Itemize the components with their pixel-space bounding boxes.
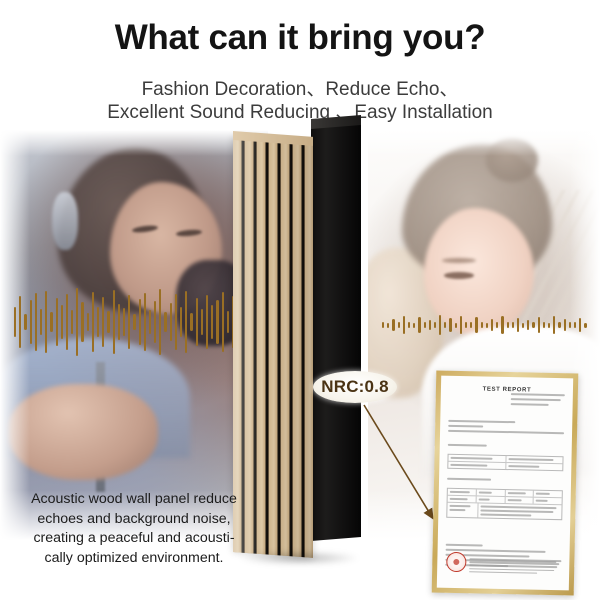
waveform-bar <box>444 322 446 328</box>
waveform-bar <box>149 310 151 334</box>
waveform-bar <box>56 298 58 346</box>
waveform-bar <box>50 312 52 332</box>
waveform-bar <box>113 290 115 354</box>
waveform-bar <box>387 323 389 328</box>
waveform-bar <box>19 296 21 348</box>
waveform-bar <box>118 304 120 340</box>
waveform-bar <box>24 314 26 330</box>
waveform-bar <box>403 316 405 334</box>
report-meta-lines <box>511 393 565 409</box>
waveform-bar <box>175 294 177 350</box>
waveform-bar <box>460 316 462 334</box>
waveform-bar <box>481 322 483 328</box>
caption-line-2: echoes and background noise, <box>6 510 262 530</box>
waveform-bar <box>532 322 534 328</box>
waveform-bar <box>201 309 203 335</box>
waveform-bar <box>538 317 540 333</box>
waveform-bar <box>558 322 560 328</box>
waveform-bar <box>180 307 182 337</box>
waveform-bar <box>35 293 37 351</box>
reduced-sound-waveform <box>382 312 587 338</box>
child-closed-eye <box>444 272 474 279</box>
waveform-bar <box>465 322 467 328</box>
subtitle-line-2: Excellent Sound Reducing 、Easy Installat… <box>0 97 600 124</box>
caption-line-3: creating a peaceful and acousti- <box>6 529 262 549</box>
nrc-badge-label: NRC:0.8 <box>321 377 389 397</box>
report-section-3-heading <box>447 478 563 485</box>
waveform-bar <box>45 291 47 353</box>
waveform-bar <box>527 320 529 330</box>
waveform-bar <box>71 310 73 334</box>
waveform-bar <box>475 317 477 333</box>
child-hair-bun <box>486 138 538 182</box>
waveform-bar <box>439 315 441 335</box>
waveform-bar <box>170 303 172 341</box>
waveform-bar <box>133 314 135 330</box>
waveform-bar <box>449 318 451 332</box>
report-page: TEST REPORT <box>437 376 573 591</box>
waveform-bar <box>434 322 436 328</box>
waveform-bar <box>211 305 213 339</box>
waveform-bar <box>97 307 99 337</box>
report-conditions-table <box>446 488 563 520</box>
waveform-bar <box>491 319 493 331</box>
waveform-bar <box>569 322 571 328</box>
waveform-bar <box>413 323 415 328</box>
waveform-bar <box>144 293 146 351</box>
waveform-bar <box>159 289 161 355</box>
waveform-bar <box>543 322 545 328</box>
waveform-bar <box>455 323 457 328</box>
caption-line-4: cally optimized environment. <box>6 549 262 569</box>
waveform-bar <box>123 308 125 336</box>
waveform-bar <box>190 313 192 331</box>
waveform-bar <box>206 295 208 349</box>
waveform-bar <box>486 323 488 328</box>
waveform-bar <box>501 316 503 334</box>
report-section-2-heading <box>448 444 564 451</box>
waveform-bar <box>102 297 104 347</box>
waveform-bar <box>496 322 498 328</box>
loud-sound-waveform <box>14 286 270 358</box>
waveform-bar <box>14 307 16 337</box>
waveform-bar <box>66 294 68 350</box>
waveform-bar <box>154 301 156 343</box>
child-eyebrow <box>442 258 476 263</box>
waveform-bar <box>382 322 384 328</box>
waveform-bar <box>424 322 426 328</box>
test-report-document: TEST REPORT <box>432 371 579 596</box>
waveform-bar <box>507 322 509 328</box>
waveform-bar <box>139 299 141 345</box>
waveform-bar <box>164 312 166 332</box>
waveform-bar <box>185 291 187 353</box>
waveform-bar <box>470 322 472 328</box>
singer-arm <box>8 384 158 480</box>
waveform-bar <box>216 300 218 344</box>
waveform-bar <box>76 288 78 356</box>
waveform-bar <box>398 322 400 328</box>
waveform-bar <box>429 320 431 330</box>
waveform-bar <box>574 322 576 328</box>
page-title: What can it bring you? <box>0 18 600 58</box>
waveform-bar <box>227 311 229 333</box>
waveform-bar <box>579 318 581 332</box>
waveform-bar <box>392 319 394 331</box>
waveform-bar <box>107 311 109 333</box>
headphone-cup <box>52 192 78 250</box>
caption-line-1: Acoustic wood wall panel reduce <box>6 490 262 510</box>
waveform-bar <box>128 295 130 349</box>
waveform-bar <box>418 317 420 333</box>
report-footer-lines <box>469 558 561 576</box>
waveform-bar <box>196 298 198 346</box>
waveform-bar <box>30 300 32 344</box>
waveform-bar <box>81 302 83 342</box>
waveform-bar <box>553 316 555 334</box>
waveform-bar <box>584 323 586 328</box>
report-section-1 <box>448 420 564 437</box>
waveform-bar <box>522 323 524 328</box>
waveform-bar <box>40 309 42 335</box>
product-caption: Acoustic wood wall panel reduce echoes a… <box>6 490 262 568</box>
waveform-bar <box>408 322 410 328</box>
waveform-bar <box>92 292 94 352</box>
waveform-bar <box>548 323 550 328</box>
waveform-bar <box>222 292 224 352</box>
waveform-bar <box>564 319 566 331</box>
waveform-bar <box>61 305 63 339</box>
product-marketing-image: What can it bring you? Fashion Decoratio… <box>0 0 600 600</box>
report-sample-table <box>447 454 563 471</box>
waveform-bar <box>87 313 89 331</box>
waveform-bar <box>512 322 514 328</box>
waveform-bar <box>517 318 519 332</box>
